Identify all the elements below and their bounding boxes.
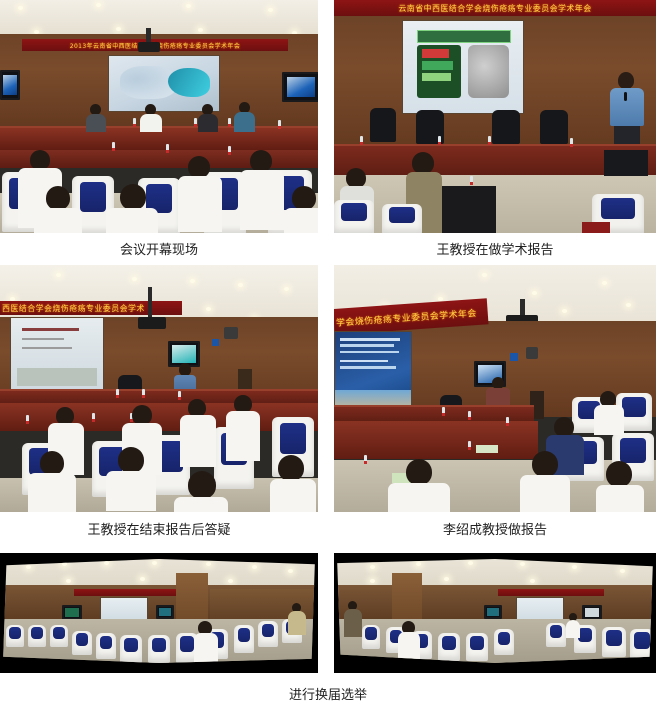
ceiling-light: [140, 577, 145, 581]
water-bottle: [142, 389, 145, 398]
ceiling-light: [152, 561, 157, 565]
audience-chair: [28, 625, 46, 647]
wall-speaker: [224, 327, 238, 339]
ceiling-light: [206, 562, 211, 566]
water-bottle: [26, 415, 29, 424]
audience-chair: [148, 635, 170, 663]
microphone: [624, 92, 627, 101]
conference-banner: 西医结合学会烧伤疮疡专业委员会学术: [0, 301, 182, 315]
gallery-row-2: 西医结合学会烧伤疮疡专业委员会学术: [0, 265, 656, 539]
front-table: [334, 421, 538, 459]
ceiling-light: [416, 562, 421, 566]
water-bottle: [468, 441, 471, 450]
office-chair: [540, 110, 568, 144]
conference-banner: [74, 589, 182, 596]
ceiling-light: [190, 279, 195, 283]
water-bottle: [228, 118, 231, 127]
wall-speaker: [526, 347, 538, 359]
wall-sign: [212, 339, 219, 346]
ceiling-light: [482, 273, 487, 277]
projector-mount: [148, 287, 152, 319]
photo-cell-4: 学会烧伤疮疡专业委员会学术年会: [334, 265, 656, 539]
photo-2[interactable]: 云南省中西医结合学会烧伤疮疡专业委员会学术年会: [334, 0, 656, 233]
projection-screen: [334, 331, 412, 411]
audience-chair: [546, 623, 566, 647]
ceiling-light: [530, 579, 535, 583]
ceiling-light: [66, 579, 71, 583]
ceiling-light: [104, 561, 109, 565]
ceiling-light: [620, 569, 625, 573]
ceiling-light: [56, 273, 61, 277]
audience-chair: [362, 625, 380, 649]
audience-chair: [258, 621, 278, 647]
ceiling-light: [562, 309, 567, 313]
audience-chair: [120, 635, 142, 663]
photo-1[interactable]: 2013年云南省中西医结合学会烧伤疮疡专业委员会学术年会: [0, 0, 318, 233]
photo-cell-1: 2013年云南省中西医结合学会烧伤疮疡专业委员会学术年会: [0, 0, 318, 259]
photo-cell-6: [334, 553, 656, 704]
water-bottle: [488, 136, 491, 145]
photo-caption-2: 王教授在做学术报告: [334, 233, 656, 259]
photo-cell-3: 西医结合学会烧伤疮疡专业委员会学术: [0, 265, 318, 539]
photo-3[interactable]: 西医结合学会烧伤疮疡专业委员会学术: [0, 265, 318, 512]
ceiling-light: [132, 277, 137, 281]
ceiling-light: [626, 303, 631, 307]
photo-cell-5: 进行换届选举: [0, 553, 318, 704]
water-bottle: [178, 391, 181, 400]
photo-6[interactable]: [334, 553, 656, 673]
water-bottle: [360, 136, 363, 145]
audience-chair: [466, 633, 488, 661]
photo-4[interactable]: 学会烧伤疮疡专业委员会学术年会: [334, 265, 656, 512]
photo-5[interactable]: [0, 553, 318, 673]
ceiling-light: [198, 28, 203, 32]
photo-cell-2: 云南省中西医结合学会烧伤疮疡专业委员会学术年会: [334, 0, 656, 259]
water-bottle: [278, 120, 281, 129]
paper-document: [476, 445, 498, 453]
office-chair: [370, 108, 396, 142]
audience-chair: [630, 629, 654, 661]
side-monitor: [156, 605, 174, 619]
ceiling-light: [268, 8, 273, 12]
wall-sign: [510, 353, 518, 361]
water-bottle: [92, 413, 95, 422]
audience-chair: [334, 200, 374, 233]
ceiling-light: [370, 565, 375, 569]
ceiling-light: [284, 287, 289, 291]
audience-chair: [96, 633, 116, 659]
water-bottle: [442, 407, 445, 416]
ceiling-light: [252, 565, 257, 569]
projection-screen: [10, 317, 104, 391]
panorama-content: [334, 559, 656, 663]
conference-banner: [498, 589, 604, 596]
photo-gallery: 2013年云南省中西医结合学会烧伤疮疡专业委员会学术年会: [0, 0, 656, 718]
ceiling-light: [116, 27, 121, 31]
water-bottle: [506, 417, 509, 426]
conference-banner: 云南省中西医结合学会烧伤疮疡专业委员会学术年会: [334, 0, 656, 16]
audience-chair: [438, 633, 460, 661]
photo-caption-1: 会议开幕现场: [0, 233, 318, 259]
photo-caption-3: 王教授在结束报告后答疑: [0, 512, 318, 539]
ceiling-light: [186, 4, 191, 8]
audience-chair: [6, 625, 24, 647]
audience-chair: [72, 631, 92, 655]
projection-screen: [402, 20, 524, 114]
audience-chair: [494, 629, 514, 655]
water-bottle: [438, 136, 441, 145]
ceiling-light: [18, 6, 23, 10]
ceiling-light: [444, 577, 449, 581]
ceiling-light: [26, 565, 31, 569]
water-bottle: [116, 389, 119, 398]
side-monitor-left: [0, 70, 20, 100]
water-bottle: [468, 411, 471, 420]
ceiling-light: [520, 562, 525, 566]
ceiling-light: [288, 569, 293, 573]
projector: [138, 317, 166, 329]
water-bottle: [570, 138, 573, 147]
side-monitor: [484, 605, 502, 619]
red-seat: [582, 222, 610, 233]
audience-chair: [50, 625, 68, 647]
ceiling-light: [238, 283, 243, 287]
ceiling-light: [468, 561, 473, 565]
water-bottle: [133, 118, 136, 127]
audience-chair: [382, 204, 422, 233]
ceiling-light: [96, 3, 101, 7]
gallery-row-1: 2013年云南省中西医结合学会烧伤疮疡专业委员会学术年会: [0, 0, 656, 259]
water-bottle: [166, 144, 169, 153]
ceiling-light: [62, 562, 67, 566]
water-bottle: [194, 118, 197, 127]
ceiling: [0, 0, 318, 34]
water-bottle: [364, 455, 367, 464]
ceiling-light: [228, 579, 233, 583]
gallery-row-3: 进行换届选举: [0, 553, 656, 704]
audience-chair: [234, 625, 254, 653]
ceiling-light: [206, 307, 211, 311]
projection-screen: [108, 55, 220, 112]
panorama-content: [0, 559, 318, 663]
water-bottle: [470, 176, 473, 185]
side-monitor: [62, 605, 82, 620]
ceiling-light: [602, 281, 607, 285]
ceiling-light: [532, 291, 537, 295]
side-monitor: [582, 605, 602, 620]
photo-caption-4: 李绍成教授做报告: [334, 512, 656, 539]
audience-chair: [602, 627, 626, 657]
ceiling-light: [572, 565, 577, 569]
water-bottle: [228, 146, 231, 155]
office-chair: [492, 110, 520, 144]
projector: [138, 42, 160, 52]
side-monitor-right: [282, 72, 318, 102]
speaker-box: [604, 150, 648, 176]
ceiling-light: [370, 579, 375, 583]
water-bottle: [112, 142, 115, 151]
